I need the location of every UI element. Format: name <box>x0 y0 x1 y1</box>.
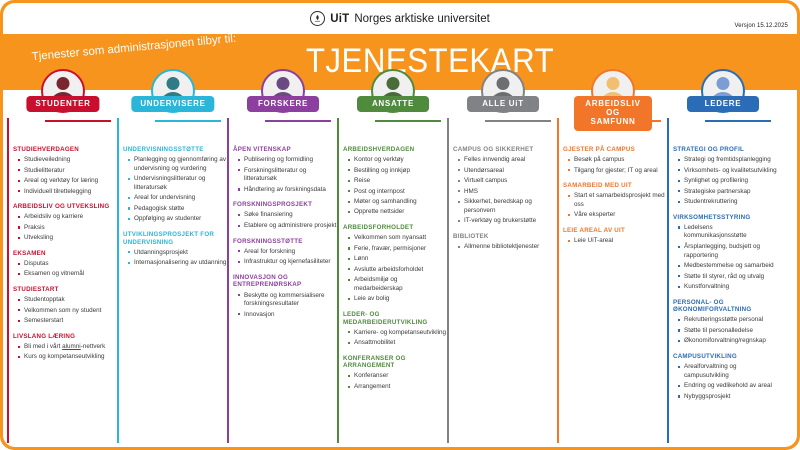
service-list: Arealforvaltning og campusutviklingEndri… <box>678 363 777 401</box>
service-list: Start et samarbeidsprosjekt med ossVåre … <box>568 192 667 220</box>
service-group: KONFERANSER OG ARRANGEMENTKonferanserArr… <box>343 355 447 392</box>
service-item[interactable]: Synlighet og profilering <box>678 177 777 186</box>
service-item[interactable]: Etablere og administrere prosjekt <box>238 222 337 231</box>
column-body: STRATEGI OG PROFILStrategi og fremtidspl… <box>673 146 777 408</box>
service-item[interactable]: Støtte til personalledelse <box>678 327 777 336</box>
service-group-title: PERSONAL- OG ØKONOMIFORVALTNING <box>673 299 777 314</box>
avatar-head <box>607 77 620 90</box>
service-item[interactable]: Studentopptak <box>18 296 117 305</box>
avatar-head <box>57 77 70 90</box>
service-group-title: SAMARBEID MED UIT <box>563 182 667 190</box>
service-item[interactable]: Pedagogisk støtte <box>128 205 227 214</box>
service-item[interactable]: Beskytte og kommersialisere forskningsre… <box>238 292 337 309</box>
service-item[interactable]: Planlegging og gjennomføring av undervis… <box>128 156 227 173</box>
column-body: CAMPUS OG SIKKERHETFelles innvendig area… <box>453 146 557 259</box>
service-group-title: FORSKNINGSPROSJEKT <box>233 201 337 209</box>
service-group: STUDIESTARTStudentopptakVelkommen som ny… <box>13 286 117 326</box>
service-group-title: ARBEIDSFORHOLDET <box>343 224 447 232</box>
column-divider <box>667 118 669 443</box>
column-body: GJESTER PÅ CAMPUSBesøk på campusTilgang … <box>563 146 667 253</box>
column-badge-label[interactable]: STUDENTER <box>26 96 99 112</box>
service-group: CAMPUS OG SIKKERHETFelles innvendig area… <box>453 146 557 226</box>
columns-container: STUDENTERSTUDIEHVERDAGENStudieveiledning… <box>3 90 797 447</box>
column-undervisere: UNDERVISEREUNDERVISNINGSSTØTTEPlanleggin… <box>117 90 229 447</box>
logo-subtitle-text: Norges arktiske universitet <box>354 13 490 25</box>
column-studenter: STUDENTERSTUDIEHVERDAGENStudieveiledning… <box>7 90 119 447</box>
column-ledere: LEDERESTRATEGI OG PROFILStrategi og frem… <box>667 90 779 447</box>
logo-uit-text: UiT <box>330 13 349 25</box>
service-item[interactable]: Utveksling <box>18 234 117 243</box>
service-group: BIBLIOTEKAllmenne bibliotektjenester <box>453 233 557 252</box>
poster-subtitle: Tjenester som administrasjonen tilbyr ti… <box>29 31 240 67</box>
service-item[interactable]: Areal for forskning <box>238 248 337 257</box>
service-item[interactable]: Søke finansiering <box>238 211 337 220</box>
service-item[interactable]: Karriere- og kompetanseutvikling <box>348 329 447 338</box>
uit-seal-icon <box>310 11 325 26</box>
service-group: FORSKNINGSPROSJEKTSøke finansieringEtabl… <box>233 201 337 230</box>
service-item[interactable]: Nybyggsprosjekt <box>678 393 777 402</box>
service-group: EKSAMENDisputasEksamen og vitnemål <box>13 250 117 279</box>
service-list: Besøk på campusTilgang for gjester; IT o… <box>568 156 667 175</box>
service-group: LEDER- OG MEDARBEIDERUTVIKLINGKarriere- … <box>343 311 447 348</box>
service-item[interactable]: Post og internpost <box>348 188 447 197</box>
content-panel: STUDENTERSTUDIEHVERDAGENStudieveiledning… <box>3 90 797 447</box>
service-item[interactable]: Disputas <box>18 260 117 269</box>
column-divider <box>557 118 559 443</box>
service-item[interactable]: Utdanningsprosjekt <box>128 249 227 258</box>
service-group-title: ARBEIDSLIV OG UTVEKSLING <box>13 203 117 211</box>
column-accent-rule <box>375 120 441 122</box>
avatar-head <box>277 77 290 90</box>
column-badge-label[interactable]: LEDERE <box>687 96 759 112</box>
service-group-title: UNDERVISNINGSSTØTTE <box>123 146 227 154</box>
service-group-title: EKSAMEN <box>13 250 117 258</box>
service-list: StudieveiledningStudielitteraturAreal og… <box>18 156 117 196</box>
service-group-title: CAMPUS OG SIKKERHET <box>453 146 557 154</box>
service-item[interactable]: Infrastruktur og kjernefasiliteter <box>238 258 337 267</box>
service-item[interactable]: Besøk på campus <box>568 156 667 165</box>
service-group: UTVIKLINGSPROSJEKT FOR UNDERVISNINGUtdan… <box>123 231 227 268</box>
service-item[interactable]: Leie UiT-areal <box>568 237 667 246</box>
service-item[interactable]: Individuell tilrettelegging <box>18 188 117 197</box>
service-group: INNOVASJON OG ENTREPRENØRSKAPBeskytte og… <box>233 274 337 319</box>
column-header-studenter[interactable]: STUDENTER <box>7 69 119 125</box>
service-group-title: LEIE AREAL AV UIT <box>563 227 667 235</box>
service-item[interactable]: Allmenne bibliotektjenester <box>458 243 557 252</box>
service-item[interactable]: HMS <box>458 188 557 197</box>
version-label: Versjon 15.12.2025 <box>734 23 788 29</box>
column-badge-label[interactable]: UNDERVISERE <box>131 96 214 112</box>
service-list: Planlegging og gjennomføring av undervis… <box>128 156 227 224</box>
service-list: Areal for forskningInfrastruktur og kjer… <box>238 248 337 267</box>
service-group: ARBEIDSLIV OG UTVEKSLINGArbeidsliv og ka… <box>13 203 117 243</box>
service-group: STUDIEHVERDAGENStudieveiledningStudielit… <box>13 146 117 196</box>
column-accent-rule <box>705 120 771 122</box>
service-list: Kontor og verktøyBestilling og innkjøpRe… <box>348 156 447 217</box>
service-list: KonferanserArrangement <box>348 372 447 391</box>
service-item[interactable]: Møter og samhandling <box>348 198 447 207</box>
service-item[interactable]: Håndtering av forskningsdata <box>238 186 337 195</box>
service-group: ÅPEN VITENSKAPPublisering og formidlingF… <box>233 146 337 194</box>
service-item[interactable]: Velkommen som ny student <box>18 307 117 316</box>
service-item[interactable]: Avslutte arbeidsforholdet <box>348 266 447 275</box>
column-badge-label[interactable]: ALLE UiT <box>467 96 539 112</box>
service-item[interactable]: Leie av bolig <box>348 295 447 304</box>
service-item[interactable]: Publisering og formidling <box>238 156 337 165</box>
service-item[interactable]: Undervisningslitteratur og litteratursøk <box>128 175 227 192</box>
service-item[interactable]: Arbeidsliv og karriere <box>18 213 117 222</box>
service-group-title: ÅPEN VITENSKAP <box>233 146 337 154</box>
service-item[interactable]: Oppfølging av studenter <box>128 215 227 224</box>
service-item[interactable]: Støtte til styrer, råd og utvalg <box>678 273 777 282</box>
service-item[interactable]: Ansattmobilitet <box>348 339 447 348</box>
service-item[interactable]: Kontor og verktøy <box>348 156 447 165</box>
avatar-head <box>497 77 510 90</box>
service-list: Velkommen som nyansattFerie, fravær, per… <box>348 234 447 304</box>
service-list: Rekrutteringsstøtte personalStøtte til p… <box>678 316 777 346</box>
service-list: Beskytte og kommersialisere forskningsre… <box>238 292 337 320</box>
service-item[interactable]: Studielitteratur <box>18 167 117 176</box>
column-body: ARBEIDSHVERDAGENKontor og verktøyBestill… <box>343 146 447 399</box>
service-item[interactable]: Bli med i vårt alumni-nettverk <box>18 343 117 352</box>
service-item[interactable]: Virtuelt campus <box>458 177 557 186</box>
service-group-title: LIVSLANG LÆRING <box>13 333 117 341</box>
column-divider <box>227 118 229 443</box>
service-item[interactable]: Kunstforvaltning <box>678 283 777 292</box>
service-group: ARBEIDSHVERDAGENKontor og verktøyBestill… <box>343 146 447 217</box>
service-item[interactable]: Semesterstart <box>18 317 117 326</box>
service-list: Bli med i vårt alumni-nettverkKurs og ko… <box>18 343 117 362</box>
service-group: STRATEGI OG PROFILStrategi og fremtidspl… <box>673 146 777 207</box>
service-group-title: INNOVASJON OG ENTREPRENØRSKAP <box>233 274 337 289</box>
service-item[interactable]: Innovasjon <box>238 311 337 320</box>
service-item[interactable]: Strategiske partnerskap <box>678 188 777 197</box>
service-item[interactable]: Velkommen som nyansatt <box>348 234 447 243</box>
column-divider <box>337 118 339 443</box>
service-list: UtdanningsprosjektInternasjonalisering a… <box>128 249 227 268</box>
service-item[interactable]: Medbestemmelse og samarbeid <box>678 262 777 271</box>
service-item[interactable]: Reise <box>348 177 447 186</box>
column-header-alle-uit[interactable]: ALLE UiT <box>447 69 559 125</box>
service-item[interactable]: Årsplanlegging, budsjett og rapportering <box>678 243 777 260</box>
service-group-title: CAMPUSUTVIKLING <box>673 353 777 361</box>
service-group: CAMPUSUTVIKLINGArealforvaltning og campu… <box>673 353 777 401</box>
service-item[interactable]: Bestilling og innkjøp <box>348 167 447 176</box>
column-badge-label[interactable]: FORSKERE <box>247 96 319 112</box>
service-item[interactable]: Våre eksperter <box>568 211 667 220</box>
tjenestekart-poster: UiT Norges arktiske universitet Versjon … <box>0 0 800 450</box>
service-item[interactable]: Endring og vedlikehold av areal <box>678 382 777 391</box>
column-accent-rule <box>265 120 331 122</box>
column-header-ansatte[interactable]: ANSATTE <box>337 69 449 125</box>
service-list: Strategi og fremtidsplanleggingVirksomhe… <box>678 156 777 207</box>
service-group-title: FORSKNINGSSTØTTE <box>233 238 337 246</box>
service-item[interactable]: Start et samarbeidsprosjekt med oss <box>568 192 667 209</box>
column-accent-rule <box>45 120 111 122</box>
service-group: LEIE AREAL AV UITLeie UiT-areal <box>563 227 667 246</box>
service-group-title: STRATEGI OG PROFIL <box>673 146 777 154</box>
service-group-title: GJESTER PÅ CAMPUS <box>563 146 667 154</box>
service-item[interactable]: Opprette nettsider <box>348 208 447 217</box>
service-item[interactable]: Økonomiforvaltning/regnskap <box>678 337 777 346</box>
column-accent-rule <box>155 120 221 122</box>
uit-logo: UiT Norges arktiske universitet <box>310 11 490 26</box>
column-ansatte: ANSATTEARBEIDSHVERDAGENKontor og verktøy… <box>337 90 449 447</box>
service-list: DisputasEksamen og vitnemål <box>18 260 117 279</box>
column-header-ledere[interactable]: LEDERE <box>667 69 779 125</box>
service-item[interactable]: Studieveiledning <box>18 156 117 165</box>
service-group-title: LEDER- OG MEDARBEIDERUTVIKLING <box>343 311 447 326</box>
service-item[interactable]: Lønn <box>348 255 447 264</box>
column-accent-rule <box>485 120 551 122</box>
column-divider <box>447 118 449 443</box>
service-list: Allmenne bibliotektjenester <box>458 243 557 252</box>
service-item[interactable]: Tilgang for gjester; IT og areal <box>568 167 667 176</box>
service-group: ARBEIDSFORHOLDETVelkommen som nyansattFe… <box>343 224 447 304</box>
service-list: Felles innvendig arealUtendørsarealVirtu… <box>458 156 557 226</box>
service-item[interactable]: IT-verktøy og brukerstøtte <box>458 217 557 226</box>
column-alle-uit: ALLE UiTCAMPUS OG SIKKERHETFelles innven… <box>447 90 559 447</box>
service-group-title: STUDIEHVERDAGEN <box>13 146 117 154</box>
service-item[interactable]: Kurs og kompetanseutvikling <box>18 353 117 362</box>
service-item[interactable]: Arbeidsmiljø og medarbeiderskap <box>348 276 447 293</box>
service-group: PERSONAL- OG ØKONOMIFORVALTNINGRekrutter… <box>673 299 777 346</box>
service-group: UNDERVISNINGSSTØTTEPlanlegging og gjenno… <box>123 146 227 224</box>
service-item[interactable]: Studentrekruttering <box>678 198 777 207</box>
service-item[interactable]: Arealforvaltning og campusutvikling <box>678 363 777 380</box>
column-body: ÅPEN VITENSKAPPublisering og formidlingF… <box>233 146 337 326</box>
service-group: SAMARBEID MED UITStart et samarbeidspros… <box>563 182 667 220</box>
column-header-arbeidsliv-og-samfunn[interactable]: ARBEIDSLIV OG SAMFUNN <box>557 69 669 125</box>
column-divider <box>7 118 9 443</box>
service-item[interactable]: Areal for undervisning <box>128 194 227 203</box>
column-body: UNDERVISNINGSSTØTTEPlanlegging og gjenno… <box>123 146 227 275</box>
service-list: Søke finansieringEtablere og administrer… <box>238 211 337 230</box>
service-item[interactable]: Internasjonalisering av utdanning <box>128 259 227 268</box>
service-group-title: VIRKSOMHETSSTYRING <box>673 214 777 222</box>
column-header-undervisere[interactable]: UNDERVISERE <box>117 69 229 125</box>
service-group: FORSKNINGSSTØTTEAreal for forskningInfra… <box>233 238 337 267</box>
column-badge-label[interactable]: ARBEIDSLIV OG SAMFUNN <box>574 96 652 131</box>
service-group-title: UTVIKLINGSPROSJEKT FOR UNDERVISNING <box>123 231 227 246</box>
service-group-title: STUDIESTART <box>13 286 117 294</box>
service-item[interactable]: Ferie, fravær, permisjoner <box>348 245 447 254</box>
column-badge-label[interactable]: ANSATTE <box>357 96 429 112</box>
service-list: Publisering og formidlingForskningslitte… <box>238 156 337 194</box>
service-item[interactable]: Eksamen og vitnemål <box>18 270 117 279</box>
service-list: Arbeidsliv og karrierePraksisUtveksling <box>18 213 117 243</box>
service-item[interactable]: Sikkerhet, beredskap og personvern <box>458 198 557 215</box>
column-arbeidsliv-og-samfunn: ARBEIDSLIV OG SAMFUNNGJESTER PÅ CAMPUSBe… <box>557 90 669 447</box>
avatar-head <box>717 77 730 90</box>
service-group-title: BIBLIOTEK <box>453 233 557 241</box>
service-group: GJESTER PÅ CAMPUSBesøk på campusTilgang … <box>563 146 667 175</box>
service-list: Leie UiT-areal <box>568 237 667 246</box>
service-item[interactable]: Utendørsareal <box>458 167 557 176</box>
service-list: Ledelsens kommunikasjonsstøtteÅrsplanleg… <box>678 224 777 292</box>
service-item[interactable]: Felles innvendig areal <box>458 156 557 165</box>
service-item[interactable]: Ledelsens kommunikasjonsstøtte <box>678 224 777 241</box>
service-group: LIVSLANG LÆRINGBli med i vårt alumni-net… <box>13 333 117 362</box>
column-body: STUDIEHVERDAGENStudieveiledningStudielit… <box>13 146 117 369</box>
service-item[interactable]: Areal og verktøy for læring <box>18 177 117 186</box>
column-header-forskere[interactable]: FORSKERE <box>227 69 339 125</box>
service-group-title: KONFERANSER OG ARRANGEMENT <box>343 355 447 370</box>
service-item[interactable]: Forskningslitteratur og litteratursøk <box>238 167 337 184</box>
column-forskere: FORSKEREÅPEN VITENSKAPPublisering og for… <box>227 90 339 447</box>
service-list: StudentopptakVelkommen som ny studentSem… <box>18 296 117 326</box>
service-item[interactable]: Arrangement <box>348 383 447 392</box>
service-group: VIRKSOMHETSSTYRINGLedelsens kommunikasjo… <box>673 214 777 292</box>
column-divider <box>117 118 119 443</box>
avatar-head <box>167 77 180 90</box>
service-item[interactable]: Praksis <box>18 224 117 233</box>
service-item[interactable]: Konferanser <box>348 372 447 381</box>
service-item[interactable]: Virksomhets- og kvalitetsutvikling <box>678 167 777 176</box>
avatar-head <box>387 77 400 90</box>
logo-bar: UiT Norges arktiske universitet Versjon … <box>3 3 797 34</box>
service-list: Karriere- og kompetanseutviklingAnsattmo… <box>348 329 447 348</box>
service-item[interactable]: Strategi og fremtidsplanlegging <box>678 156 777 165</box>
service-item[interactable]: Rekrutteringsstøtte personal <box>678 316 777 325</box>
service-group-title: ARBEIDSHVERDAGEN <box>343 146 447 154</box>
